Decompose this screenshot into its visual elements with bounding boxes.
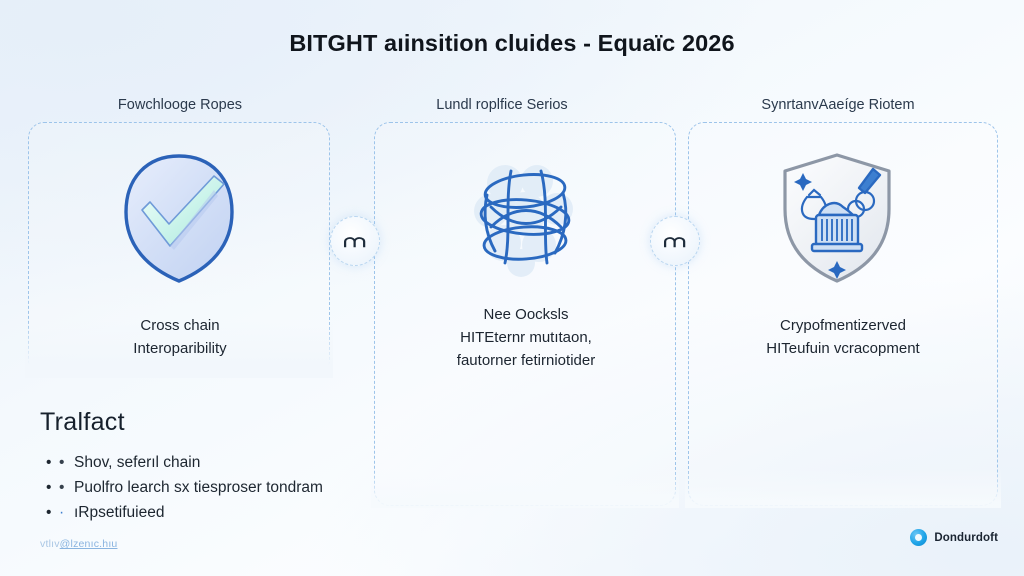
footer-link[interactable]: vtlıv@lzenıc.hıu <box>40 538 117 550</box>
bullet-marker: • <box>46 450 51 475</box>
brand-globe-icon <box>910 529 927 546</box>
card-caption-1: Cross chain Interoparibility <box>40 314 320 360</box>
slide-canvas: BITGHT aıinsition cluides - Equaïc 2026 … <box>0 0 1024 576</box>
shield-vault-icon <box>752 148 922 288</box>
bullet-marker: · <box>59 500 64 525</box>
brand-lockup: Dondurdoft <box>910 529 998 546</box>
caption-line: fautorner fetirniotider <box>386 349 666 372</box>
list-item: • · ıRpsetifuieed <box>42 500 502 525</box>
list-item-text: Puolfro learch sx tiesproser tondram <box>74 479 323 496</box>
notes-heading: Tralfact <box>40 408 125 437</box>
caption-line: Interoparibility <box>40 337 320 360</box>
caption-line: Nee Oocksls <box>386 303 666 326</box>
caption-line: HITEternr mutıtaon, <box>386 326 666 349</box>
caption-line: Crypofmentizerved <box>700 314 986 337</box>
list-item: • • Puolfro learch sx tiesproser tondram <box>42 475 502 500</box>
card-caption-2: Nee Oocksls HITEternr mutıtaon, fautorne… <box>386 303 666 372</box>
network-cluster-icon <box>440 148 610 288</box>
brand-name: Dondurdoft <box>934 532 998 544</box>
connector-badge-1: ⩋ <box>330 216 380 266</box>
page-title: BITGHT aıinsition cluides - Equaïc 2026 <box>0 30 1024 57</box>
caption-line: Cross chain <box>40 314 320 337</box>
list-item: • • Shov, seferıl chain <box>42 450 502 475</box>
footer-link-handle[interactable]: @lzenıc.hıu <box>60 538 118 550</box>
footer-link-prefix: vtlıv <box>40 538 60 550</box>
bullet-marker: • <box>46 500 51 525</box>
column-heading-3: SynrtanvAaeíge Riotem <box>688 97 988 113</box>
column-heading-1: Fowchlooge Ropes <box>30 97 330 113</box>
shield-check-icon <box>94 148 264 288</box>
bullet-marker: • <box>46 475 51 500</box>
flow-arrows-icon: ⩋ <box>664 233 686 250</box>
notes-list: • • Shov, seferıl chain • • Puolfro lear… <box>42 450 502 525</box>
list-item-text: Shov, seferıl chain <box>74 454 200 471</box>
list-item-text: ıRpsetifuieed <box>74 504 164 521</box>
card-caption-3: Crypofmentizerved HITeufuin vcracopment <box>700 314 986 360</box>
connector-badge-2: ⩋ <box>650 216 700 266</box>
column-heading-2: Lundl roplfice Serios <box>352 97 652 113</box>
bullet-marker: • <box>59 450 64 475</box>
bullet-marker: • <box>59 475 64 500</box>
caption-line: HITeufuin vcracopment <box>700 337 986 360</box>
flow-arrows-icon: ⩋ <box>344 233 366 250</box>
